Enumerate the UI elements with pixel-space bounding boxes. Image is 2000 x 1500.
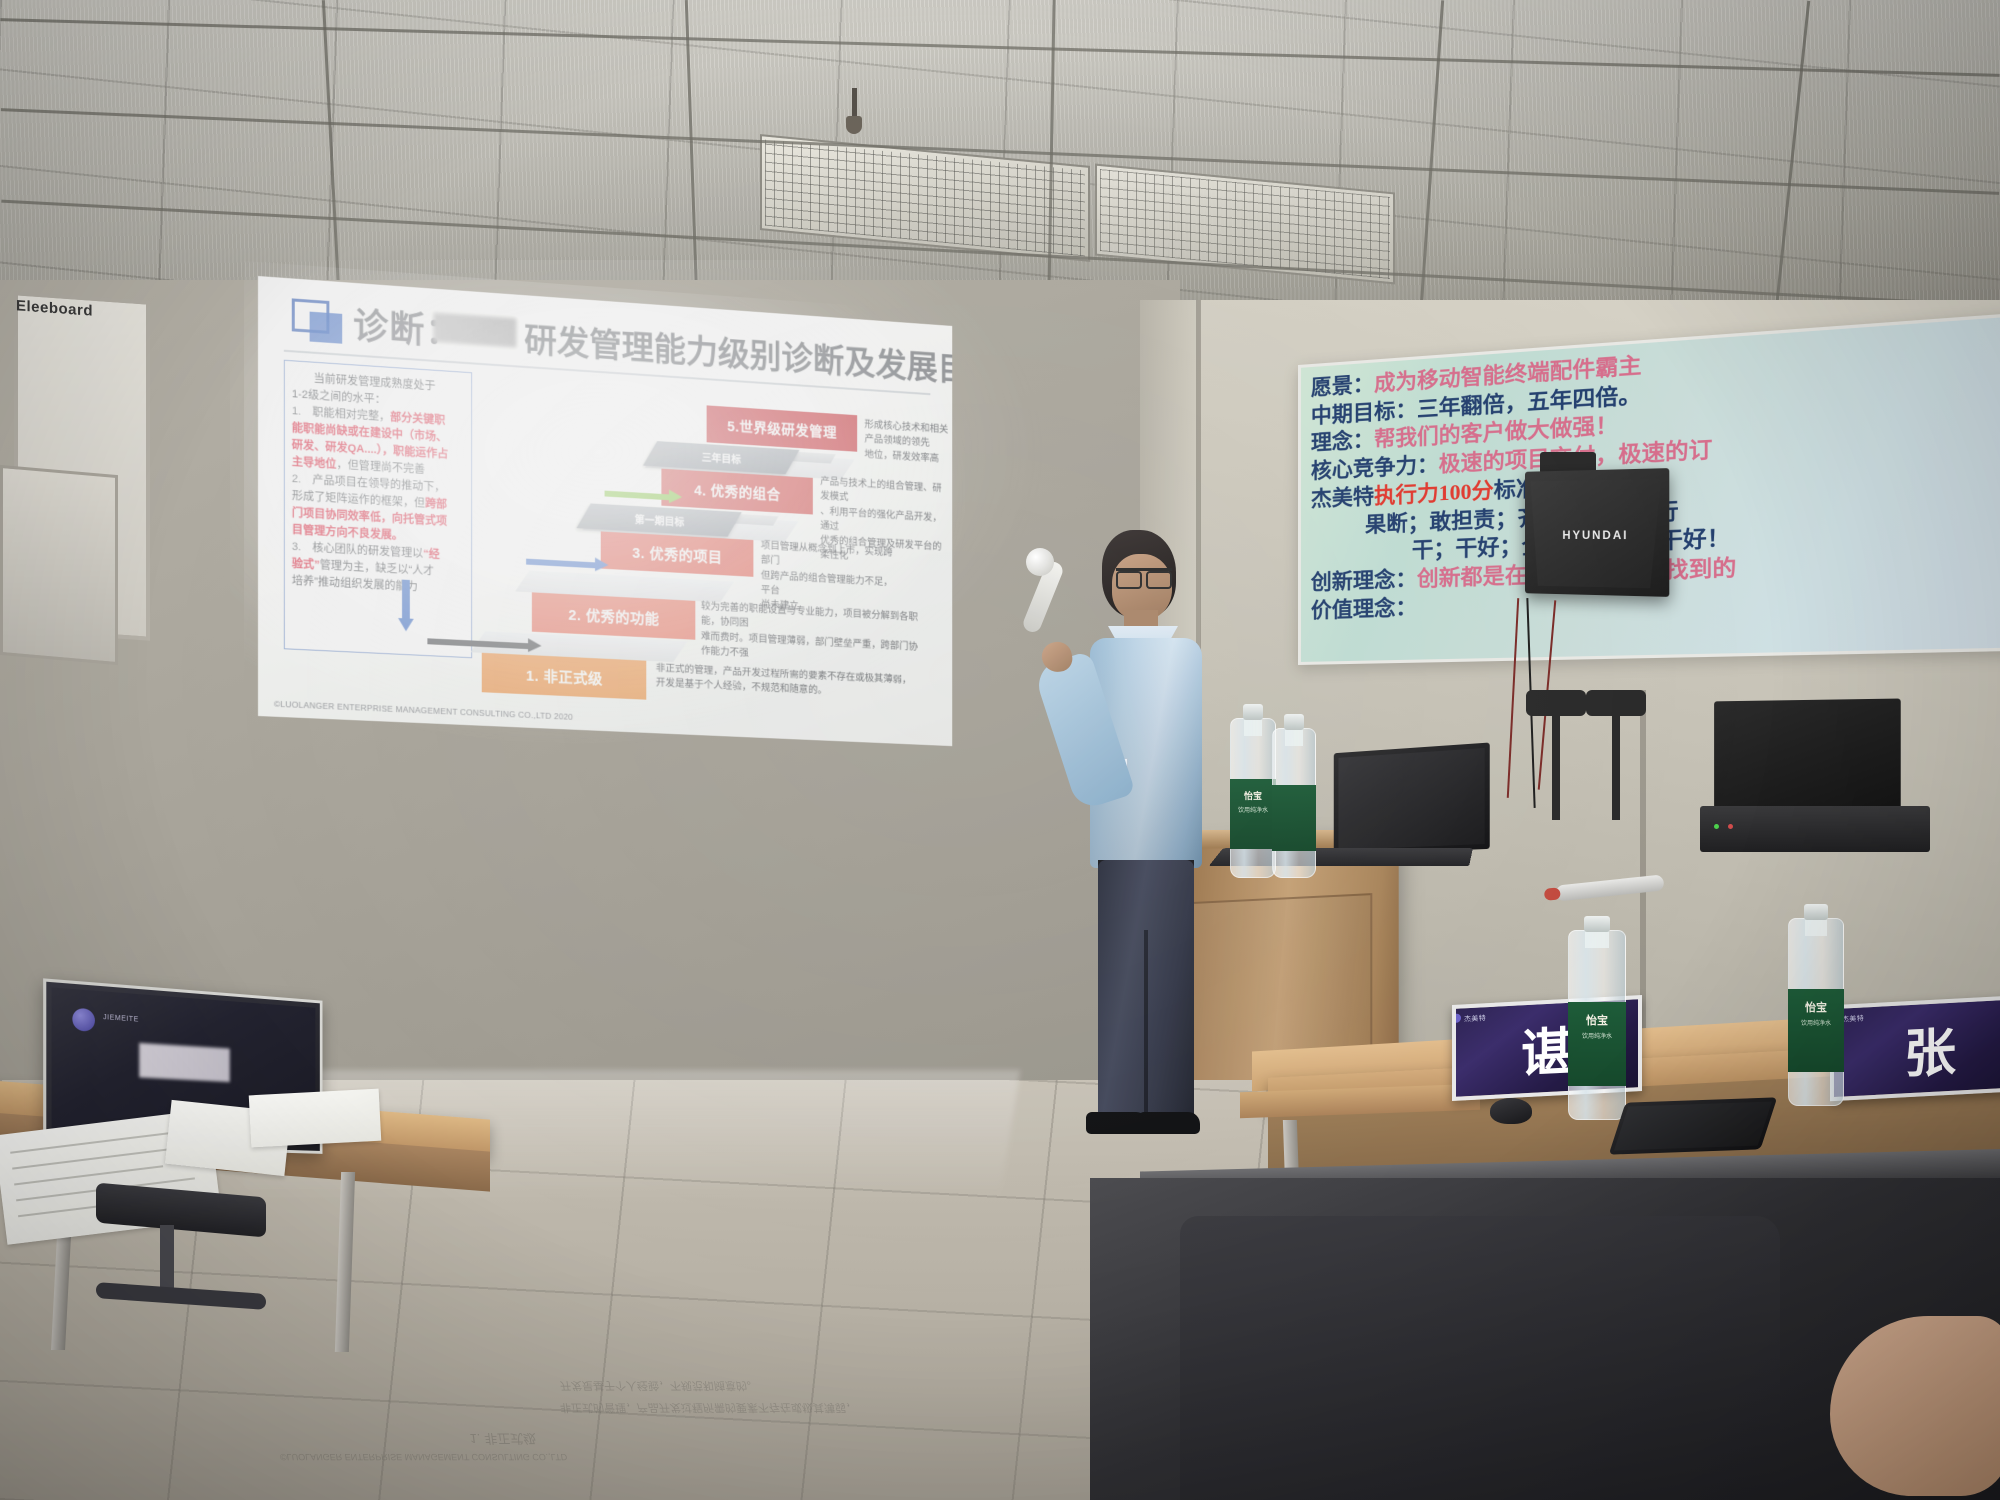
poster-text-segment: 中期目标：: [1311, 397, 1417, 428]
bottle-sub-4: 饮用纯净水: [1788, 1018, 1844, 1027]
diagnosis-text-segment: ，但管理尚不完善: [336, 459, 425, 476]
trouser-seam: [1144, 930, 1148, 1120]
chair-post: [160, 1225, 174, 1295]
bottle-sub-1: 饮用纯净水: [1230, 805, 1276, 814]
poster-text-segment: 理念：: [1311, 428, 1374, 456]
bottle-brand-1: 怡宝: [1230, 789, 1276, 802]
mic-base-left: [1526, 690, 1586, 716]
fire-sprinkler-icon: [846, 88, 862, 134]
mic-stand-right: [1612, 700, 1620, 820]
redacted-company-name: [433, 312, 516, 347]
diagnosis-text-panel: 当前研发管理成熟度处于1-2级之间的水平：1. 职能相对完整，部分关键职能职能尚…: [284, 360, 472, 659]
diagnosis-text-segment: 跨部: [425, 498, 447, 511]
placard-name-1: 谌: [1521, 1009, 1573, 1087]
level-2-description: 较为完善的职能设置与专业能力，项目被分解到各职能，协同困 难而费时。项目管理薄弱…: [701, 599, 923, 669]
bottle-label-4: 怡宝 饮用纯净水: [1788, 989, 1844, 1072]
wall-speaker: HYUNDAI: [1525, 468, 1669, 597]
bottle-brand-3: 怡宝: [1568, 1012, 1626, 1028]
maturity-level-3-label: 3. 优秀的项目: [632, 541, 722, 566]
conference-room-scene: Eleeboard 诊断： 研发管理能力级别诊断及发展目标规划 当前研发管理成熟…: [0, 0, 2000, 1500]
placard-logo-2: 杰美特: [1842, 1013, 1864, 1024]
diagnosis-text-segment: “经: [423, 548, 440, 561]
maturity-level-2: 2. 优秀的功能: [532, 592, 695, 639]
presentation-slide: 诊断： 研发管理能力级别诊断及发展目标规划 当前研发管理成熟度处于1-2级之间的…: [258, 276, 952, 746]
floor-reflection-text-4: ©LUOLANGER ENTERPRISE MANAGEMENT CONSULT…: [279, 1452, 568, 1462]
floor-reflection-text-2: 非正式的管理，产品开发过程所需的要素不存在或极其薄弱，: [559, 1400, 858, 1416]
poster-text-segment: 核心竞争力：: [1311, 452, 1439, 483]
diagnosis-text-segment: 主导地位: [292, 456, 337, 471]
laptop-screen[interactable]: [1334, 743, 1490, 855]
level-5-description: 形成核心技术和相关产品领域的领先 地位，研发效率高: [864, 418, 952, 468]
presenter-shoe-right: [1138, 1112, 1200, 1134]
water-bottle-3: 怡宝 饮用纯净水: [1568, 930, 1626, 1120]
arrow-green-icon: [605, 489, 683, 502]
projection-screen: 诊断： 研发管理能力级别诊断及发展目标规划 当前研发管理成熟度处于1-2级之间的…: [258, 276, 952, 746]
placard-brand-2: 杰美特: [1842, 1015, 1864, 1023]
slide-footer-copyright: ©LUOLANGER ENTERPRISE MANAGEMENT CONSULT…: [274, 699, 573, 722]
av-receiver[interactable]: [1700, 806, 1930, 852]
mic-base-right: [1586, 690, 1646, 716]
name-placard-2: 杰美特 张: [1830, 995, 2000, 1101]
foreground-seat: [1180, 1216, 1780, 1500]
av-monitor[interactable]: [1714, 699, 1901, 812]
maturity-staircase-diagram: 三年目标 第一期目标 5.世界级研发管理 4. 优秀的组合 3. 优秀的项目 2…: [482, 375, 943, 692]
glasses-icon: [1116, 568, 1172, 583]
water-bottle-4: 怡宝 饮用纯净水: [1788, 918, 1844, 1106]
poster-text-segment: 愿景：: [1311, 372, 1374, 400]
water-bottle-2: [1272, 728, 1316, 878]
arrow-blue-icon: [526, 557, 608, 570]
bottle-label-2: [1272, 785, 1316, 851]
status-led-icon: [1728, 824, 1733, 829]
presenter: [1060, 530, 1210, 1150]
floor-reflection-text-3: 开发是基于个人经验，不规范和随意的。: [559, 1378, 759, 1394]
maturity-level-1: 1. 非正式级: [482, 653, 647, 700]
tablet-device[interactable]: [1609, 1097, 1778, 1154]
bottle-brand-4: 怡宝: [1788, 999, 1844, 1015]
power-led-icon: [1714, 824, 1719, 829]
placard-brand-1: 杰美特: [1464, 1015, 1486, 1023]
placard-logo-1: 杰美特: [1464, 1013, 1486, 1024]
poster-text-segment: 创新理念：: [1311, 567, 1417, 595]
goal-band-3year-label: 三年目标: [702, 449, 741, 466]
arrow-down-blue-icon: [398, 579, 414, 631]
floor-reflection-text-1: 1. 非正式级: [469, 1430, 538, 1449]
square-filled-icon: [310, 312, 343, 344]
maturity-level-1-label: 1. 非正式级: [526, 664, 603, 688]
diagnosis-text-segment: 部分关键职: [390, 411, 445, 426]
maturity-level-5-label: 5.世界级研发管理: [727, 415, 837, 442]
maturity-level-4-label: 4. 优秀的组合: [694, 479, 781, 505]
speaker-brand-label: HYUNDAI: [1562, 528, 1628, 542]
bottle-sub-3: 饮用纯净水: [1568, 1031, 1626, 1040]
microphone-head-icon: [1026, 548, 1054, 576]
mic-stand-left: [1552, 700, 1560, 820]
maturity-level-2-label: 2. 优秀的功能: [568, 604, 659, 629]
goal-band-phase1-label: 第一期目标: [635, 511, 685, 528]
left-whiteboard-lower: [0, 465, 118, 665]
paper-sheet-3: [249, 1089, 382, 1148]
poster-text-segment: 执行力100分: [1374, 478, 1494, 508]
computer-mouse[interactable]: [1490, 1098, 1532, 1124]
bottle-label-3: 怡宝 饮用纯净水: [1568, 1002, 1626, 1086]
maturity-level-4: 4. 优秀的组合: [661, 469, 812, 515]
maturity-level-3: 3. 优秀的项目: [601, 531, 754, 576]
bottle-label-1: 怡宝 饮用纯净水: [1230, 779, 1276, 849]
water-bottle-1: 怡宝 饮用纯净水: [1230, 718, 1276, 878]
poster-text-segment: 杰美特: [1311, 484, 1374, 511]
placard-name-2: 张: [1904, 1009, 1956, 1087]
level-1-description: 非正式的管理，产品开发过程所需的要素不存在或极其薄弱， 开发是基于个人经验，不规…: [656, 661, 916, 703]
monitor-logo-text: JIEMEITE: [103, 1014, 139, 1024]
poster-text-segment: 价值理念：: [1311, 595, 1417, 622]
diagnosis-text-segment: 验式”: [292, 558, 320, 571]
monitor-redacted-area: [139, 1043, 230, 1082]
monitor-logo-icon: [72, 1008, 95, 1032]
